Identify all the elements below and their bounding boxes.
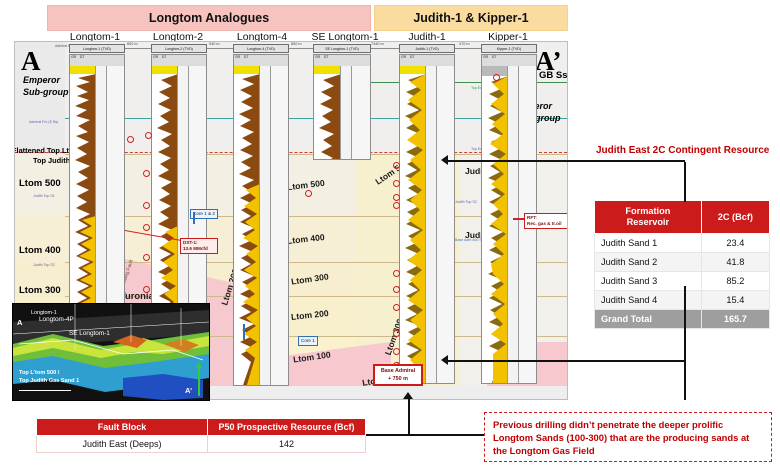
gas-show-icon: [143, 224, 150, 231]
col-header-formation-line1: Formation: [625, 206, 670, 216]
gamma-ray-curve-kipper-1: [482, 66, 507, 383]
section-end-left-label: A: [21, 46, 41, 77]
inset-3d-surface-map[interactable]: Longtom-1 Longtom-4P SE Longtom-1 Top L’…: [12, 303, 210, 401]
gas-show-icon: [143, 170, 150, 177]
gas-show-icon: [143, 254, 150, 261]
well-track-judith-1[interactable]: GR DT: [399, 54, 455, 384]
cell-2c-value: 15.4: [701, 291, 769, 310]
connector-arrow-bottom: [441, 355, 448, 365]
callout-core-1[interactable]: Core 1: [298, 336, 318, 346]
well-header-longtom-2[interactable]: Longtom-2 (TVD): [151, 44, 207, 53]
callout-dst-1-line2: 13.6 MMcfd: [183, 246, 215, 252]
col-header-2c-bcf: 2C (Bcf): [701, 201, 769, 234]
table-row[interactable]: Judith Sand 2 41.8: [595, 253, 770, 272]
gas-show-icon: [393, 286, 400, 293]
cell-grand-total-value: 165.7: [701, 310, 769, 329]
inset-scale-bar: [19, 390, 71, 391]
connector-vertical-top: [684, 162, 686, 202]
table-row[interactable]: Judith East (Deeps) 142: [37, 436, 366, 453]
connector-vertical-bottom: [684, 286, 686, 400]
spacing-line-2: [207, 48, 233, 49]
spacing-label-judith-1: 470 m: [459, 42, 470, 46]
inset-surface-label-line1: Top L’tom 500 /: [19, 370, 59, 376]
gas-show-icon: [305, 190, 312, 197]
gas-show-icon: [127, 136, 134, 143]
spacing-line-5: [455, 48, 481, 49]
table-header-row: Formation Reservoir 2C (Bcf): [595, 201, 770, 234]
well-header-kipper-1[interactable]: Kipper-1 (TVD): [481, 44, 537, 53]
banner-longtom-analogues: Longtom Analogues: [47, 5, 371, 31]
well-track-longtom-4[interactable]: GR DT: [233, 54, 289, 386]
spacing-line-4: [371, 48, 399, 49]
table-header-row: Fault Block P50 Prospective Resource (Bc…: [37, 419, 366, 436]
strat-left-ltom-400: Ltom 400: [19, 245, 61, 256]
banner-longtom-label: Longtom Analogues: [149, 11, 269, 25]
connector-horizontal-top: [447, 160, 685, 162]
cell-2c-value: 41.8: [701, 253, 769, 272]
connector-note-horizontal: [366, 434, 484, 436]
gas-show-icon: [393, 348, 400, 355]
gas-show-icon: [143, 202, 150, 209]
callout-base-admiral[interactable]: Base Admiral + 750 m: [373, 364, 423, 386]
table-row[interactable]: Judith Sand 4 15.4: [595, 291, 770, 310]
gas-show-icon: [393, 202, 400, 209]
callout-dst-1[interactable]: DST-1: 13.6 MMcfd: [180, 238, 218, 254]
prospective-resource-table[interactable]: Fault Block P50 Prospective Resource (Bc…: [36, 418, 366, 453]
marker-judith-top-s1: Judith Top S1: [33, 194, 55, 198]
cell-p50-value: 142: [208, 436, 366, 453]
callout-rft[interactable]: RFT: Rec. gas & tr.oil: [524, 213, 568, 229]
spacing-line-3: [289, 48, 313, 49]
callout-base-admiral-line1: Base Admiral: [377, 367, 419, 375]
inset-label-longtom-4p: Longtom-4P: [39, 316, 74, 323]
table-row[interactable]: Judith Sand 3 85.2: [595, 272, 770, 291]
well-header-se-longtom-1[interactable]: SE Longtom-1 (TVD): [313, 44, 371, 53]
well-header-judith-1[interactable]: Judith-1 (TVD): [399, 44, 455, 53]
contingent-resource-table[interactable]: Formation Reservoir 2C (Bcf) Judith Sand…: [594, 200, 770, 329]
cell-formation: Judith Sand 2: [595, 253, 702, 272]
resource-table-title: Judith East 2C Contingent Resource: [596, 145, 769, 156]
spacing-label-longtom-1: 600 m: [127, 42, 138, 46]
inset-label-se-longtom-1: SE Longtom-1: [69, 330, 110, 337]
inset-surface-label-line2: Top Judith Gas Sand 1: [19, 378, 79, 384]
marker-judith-top-s2-right: Judith Top S2: [455, 200, 477, 204]
marker-admiral-fm: Admiral Fm (E Bs): [29, 120, 58, 124]
gas-show-icon: [393, 270, 400, 277]
gas-show-icon: [393, 194, 400, 201]
callout-base-admiral-line2: + 750 m: [377, 375, 419, 383]
col-header-fault-block: Fault Block: [37, 419, 208, 436]
spacing-label-longtom-4: 850 m: [291, 42, 302, 46]
strat-left-ltom-300: Ltom 300: [19, 285, 61, 296]
gamma-ray-curve-se-longtom-1: [314, 66, 340, 159]
cell-2c-value: 23.4: [701, 234, 769, 253]
connector-note-arrow: [403, 392, 413, 399]
lithology-column-longtom-4: [270, 66, 288, 385]
callout-rft-line2: Rec. gas & tr.oil: [527, 221, 567, 227]
table-row[interactable]: Judith Sand 1 23.4: [595, 234, 770, 253]
lithology-column-judith-1: [436, 66, 454, 383]
gas-show-icon: [393, 162, 400, 169]
core-1-interval-bar: [243, 324, 245, 340]
gamma-ray-curve-longtom-4: [234, 66, 259, 385]
gas-show-icon: [393, 330, 400, 337]
strat-left-ltom-500: Ltom 500: [19, 178, 61, 189]
banner-judith-kipper: Judith-1 & Kipper-1: [374, 5, 568, 31]
col-header-p50-prospective: P50 Prospective Resource (Bcf): [208, 419, 366, 436]
cell-formation: Judith Sand 1: [595, 234, 702, 253]
cell-fault-block: Judith East (Deeps): [37, 436, 208, 453]
gamma-ray-curve-judith-1: [400, 66, 425, 383]
gas-show-icon: [493, 74, 500, 81]
banner-judith-label: Judith-1 & Kipper-1: [413, 11, 528, 25]
table-row-total: Grand Total 165.7: [595, 310, 770, 329]
spacing-line-1: [125, 48, 151, 49]
marker-judith-top-s2: Judith Top S2: [33, 263, 55, 267]
well-track-se-longtom-1[interactable]: GR DT: [313, 54, 371, 160]
well-header-longtom-4[interactable]: Longtom-4 (TVD): [233, 44, 289, 53]
core-1-2-interval-bar: [193, 212, 195, 224]
gas-show-icon: [393, 180, 400, 187]
gas-show-icon: [145, 132, 152, 139]
rft-leader-line: [513, 218, 525, 220]
col-header-formation-line2: Reservoir: [627, 217, 669, 227]
connector-horizontal-bottom: [447, 360, 685, 362]
spacing-label-longtom-2: 940 m: [209, 42, 220, 46]
inset-section-end-right: A’: [185, 386, 192, 395]
spacing-label-se-longtom-1: 7440 m: [371, 42, 384, 46]
inset-section-end-left: A: [17, 318, 22, 327]
col-header-formation-reservoir: Formation Reservoir: [595, 201, 702, 234]
well-header-longtom-1[interactable]: Longtom-1 (TVD): [69, 44, 125, 53]
lithology-column-se-longtom-1: [351, 66, 370, 159]
gas-show-icon: [393, 304, 400, 311]
connector-arrow-top: [441, 155, 448, 165]
connector-note-vertical: [408, 398, 410, 434]
gas-show-icon: [143, 286, 150, 293]
note-previous-drilling: Previous drilling didn’t penetrate the d…: [484, 412, 772, 462]
cell-2c-value: 85.2: [701, 272, 769, 291]
